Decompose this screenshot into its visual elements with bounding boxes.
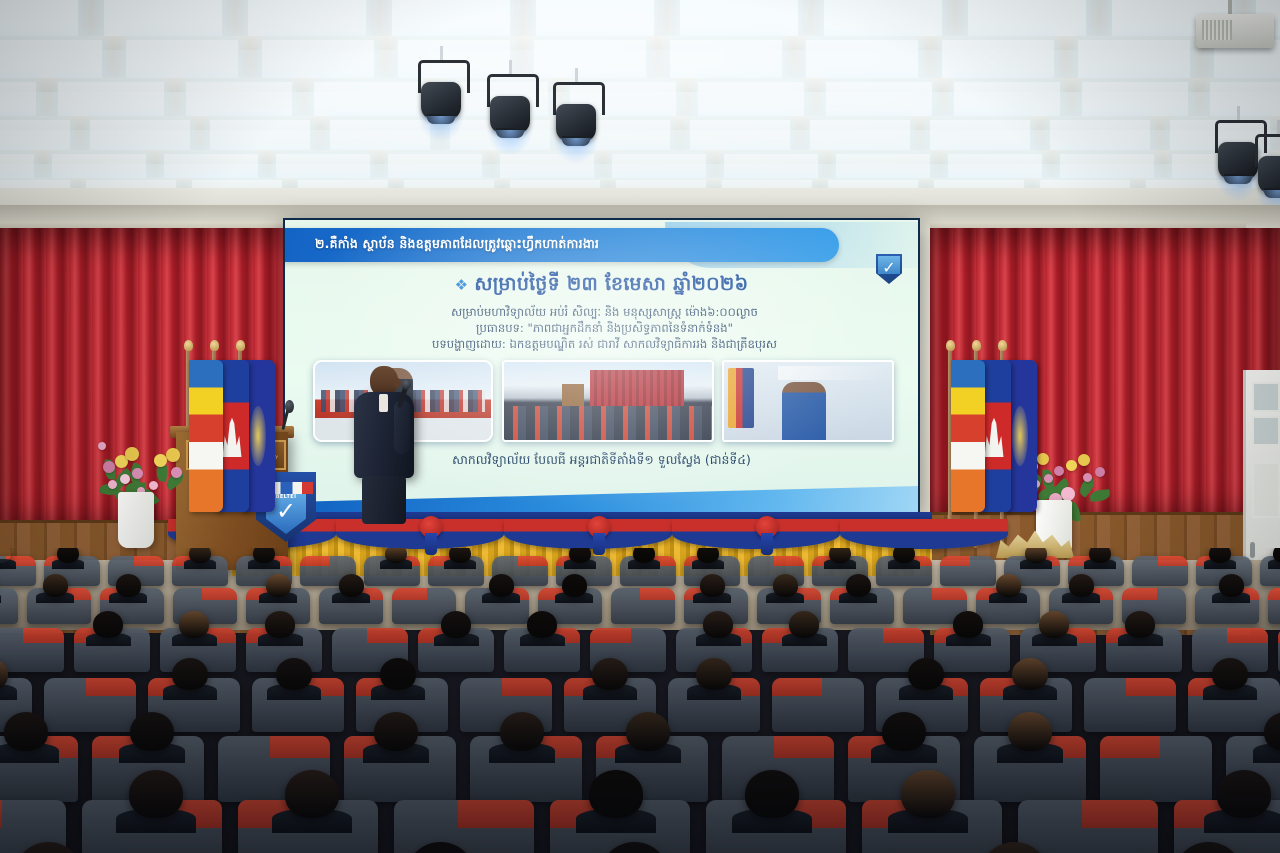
bouquet-flower	[171, 467, 182, 478]
audience-member-head	[130, 712, 174, 751]
audience-member-head	[626, 712, 670, 751]
presenter-ear	[394, 378, 401, 388]
audience-member-head	[385, 548, 406, 563]
bouquet-flower	[1037, 453, 1049, 465]
seat-headrest-accent	[392, 588, 427, 600]
audience-member-head	[846, 574, 871, 596]
bouquet-flower	[98, 442, 106, 450]
seat-headrest-accent	[1126, 678, 1176, 696]
audience-member-head	[789, 611, 819, 638]
bouquet-flower	[1066, 460, 1077, 471]
seat-headrest-accent	[134, 556, 164, 566]
audience-member-head	[1125, 611, 1155, 638]
audience-member-head	[57, 548, 78, 563]
audience-member-head	[1039, 611, 1069, 638]
seat-headrest-accent	[940, 556, 970, 566]
seat-headrest-accent	[1122, 588, 1157, 600]
auditorium-seat[interactable]	[0, 588, 18, 624]
seat-headrest-accent	[270, 736, 330, 758]
auditorium-seat[interactable]	[940, 556, 996, 586]
seat-headrest-accent	[932, 588, 967, 600]
buddhist-flag	[951, 360, 985, 512]
skirt-rosette	[588, 516, 610, 538]
seat-headrest-accent	[1082, 800, 1158, 828]
audience-member-head	[339, 574, 364, 596]
audience-member-head	[1212, 658, 1248, 690]
audience-member-head	[500, 712, 544, 751]
presenter-trousers	[362, 476, 406, 524]
bouquet-flower	[1061, 487, 1075, 501]
auditorium-seat[interactable]	[0, 628, 64, 672]
audience-member-head	[116, 574, 141, 596]
audience-member-head	[172, 658, 208, 690]
seat-headrest-accent	[640, 588, 675, 600]
audience-member-head	[1012, 658, 1048, 690]
audience-member-head	[696, 658, 732, 690]
auditorium-seat[interactable]	[1084, 678, 1176, 732]
audience-member-head	[1069, 574, 1094, 596]
bouquet-flower	[154, 454, 167, 467]
audience-member-head	[374, 712, 418, 751]
audience-member-head	[43, 574, 68, 596]
audience-member-head	[996, 574, 1021, 596]
skirt-swag	[840, 519, 1008, 549]
audience-member-head	[633, 548, 654, 563]
audience-member-head	[253, 548, 274, 563]
seat-headrest-accent	[1158, 556, 1188, 566]
presenter-arm	[394, 400, 410, 454]
audience-member-head	[441, 611, 471, 638]
audience-member-head	[527, 611, 557, 638]
auditorium-seat[interactable]	[1132, 556, 1188, 586]
audience-member-head	[266, 574, 291, 596]
audience-member-head	[953, 611, 983, 638]
audience-member-head	[829, 548, 850, 563]
bouquet-flower	[166, 448, 180, 462]
seat-headrest-accent	[1268, 588, 1280, 600]
audience-member-head	[592, 658, 628, 690]
audience-member-head	[882, 712, 926, 751]
presenter-on-stage	[352, 366, 416, 522]
auditorium-seat[interactable]	[394, 800, 534, 853]
audience-member-head	[569, 548, 590, 563]
seat-headrest-accent	[772, 678, 822, 696]
audience-member-head	[1089, 548, 1110, 563]
seat-headrest-accent	[23, 628, 64, 643]
seat-headrest-accent	[518, 556, 548, 566]
audience-member-head	[380, 658, 416, 690]
auditorium-scene: ២.គឺកាំង ស្ថាប័ន និងឧត្តមភាពដែលត្រូវឆ្ពោ…	[0, 0, 1280, 853]
audience-member-head	[489, 574, 514, 596]
seat-headrest-accent	[1227, 628, 1268, 643]
bouquet-flower	[1083, 473, 1092, 482]
seat-headrest-accent	[774, 736, 834, 758]
bouquet-flower	[132, 468, 143, 479]
seat-headrest-accent	[590, 628, 631, 643]
bouquet-flower	[1044, 474, 1053, 483]
audience-member-head	[189, 548, 210, 563]
audience-member-head	[1219, 574, 1244, 596]
audience-member-head	[589, 770, 643, 818]
audience-member-head	[1008, 712, 1052, 751]
audience-member-head	[129, 770, 183, 818]
presenter-shirt-collar	[379, 394, 388, 412]
audience-member-head	[703, 611, 733, 638]
auditorium-seat[interactable]	[1100, 736, 1212, 802]
audience-member-head	[893, 548, 914, 563]
auditorium-seat[interactable]	[44, 678, 136, 732]
seat-headrest-accent	[1100, 736, 1160, 758]
flower-vase-left	[118, 492, 154, 548]
audience-seating	[0, 548, 1280, 853]
audience-member-head	[285, 770, 339, 818]
auditorium-seat[interactable]	[772, 678, 864, 732]
seat-headrest-accent	[0, 800, 2, 828]
seat-headrest-accent	[883, 628, 924, 643]
auditorium-seat[interactable]	[611, 588, 675, 624]
podium-microphone-head	[285, 400, 294, 413]
audience-member-head	[1025, 548, 1046, 563]
skirt-rosette	[420, 516, 442, 538]
skirt-rosette	[756, 516, 778, 538]
seat-headrest-accent	[774, 556, 804, 566]
audience-member-head	[745, 770, 799, 818]
seat-headrest-accent	[300, 556, 330, 566]
audience-member-head	[265, 611, 295, 638]
audience-member-head	[1209, 548, 1230, 563]
audience-member-head	[276, 658, 312, 690]
audience-member-head	[4, 712, 48, 751]
auditorium-seat[interactable]	[1018, 800, 1158, 853]
audience-member-head	[1217, 770, 1271, 818]
auditorium-seat[interactable]	[1268, 588, 1280, 624]
buddhist-flag	[189, 360, 223, 512]
bouquet-flower	[1078, 454, 1090, 466]
audience-member-head	[700, 574, 725, 596]
bouquet-flower	[1054, 466, 1064, 476]
bouquet-flower	[149, 481, 158, 490]
audience-member-head	[697, 548, 718, 563]
audience-member-head	[93, 611, 123, 638]
bouquet-flower	[108, 480, 117, 489]
bouquet-flower	[103, 461, 115, 473]
seat-headrest-accent	[367, 628, 408, 643]
audience-member-head	[901, 770, 955, 818]
seat-headrest-accent	[502, 678, 552, 696]
audience-member-head	[179, 611, 209, 638]
bouquet-flower	[125, 447, 139, 461]
audience-member-head	[908, 658, 944, 690]
seat-headrest-accent	[202, 588, 237, 600]
seat-headrest-accent	[458, 800, 534, 828]
audience-member-head	[449, 548, 470, 563]
audience-member-head	[562, 574, 587, 596]
seat-headrest-accent	[86, 678, 136, 696]
bouquet-flower	[120, 474, 130, 484]
bouquet-flower	[1095, 467, 1105, 477]
audience-member-head	[773, 574, 798, 596]
